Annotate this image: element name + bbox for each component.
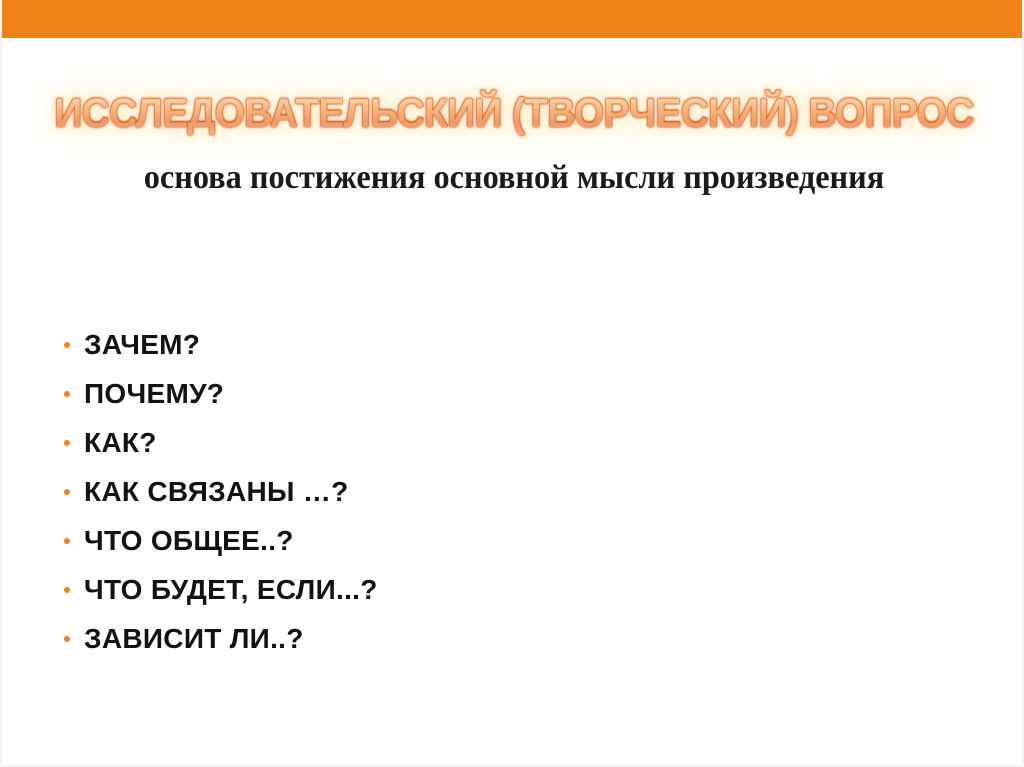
bullet-dot-icon [64,489,70,495]
list-item: ПОЧЕМУ? [62,369,782,418]
list-item: ЗАЧЕМ? [62,320,782,369]
bullet-dot-icon [64,342,70,348]
bullet-dot-icon [64,440,70,446]
list-item: ЧТО ОБЩЕЕ..? [62,516,782,565]
list-item: КАК? [62,418,782,467]
list-item-label: КАК? [84,428,157,458]
list-item-label: ЗАВИСИТ ЛИ..? [84,624,304,654]
list-item-label: ЧТО БУДЕТ, ЕСЛИ...? [84,575,378,605]
list-item: ЧТО БУДЕТ, ЕСЛИ...? [62,565,782,614]
page-title-text: ИССЛЕДОВАТЕЛЬСКИЙ (ТВОРЧЕСКИЙ) ВОПРОС [17,90,1010,136]
slide-canvas: ИССЛЕДОВАТЕЛЬСКИЙ (ТВОРЧЕСКИЙ) ВОПРОС ИС… [0,0,1024,767]
bullet-dot-icon [64,587,70,593]
list-item: ЗАВИСИТ ЛИ..? [62,614,782,663]
bullet-dot-icon [64,636,70,642]
question-list: ЗАЧЕМ? ПОЧЕМУ? КАК? КАК СВЯЗАНЫ …? ЧТО О… [62,320,782,663]
bullet-dot-icon [64,391,70,397]
bullet-dot-icon [64,538,70,544]
page-subtitle: основа постижения основной мысли произве… [96,155,932,201]
list-item: КАК СВЯЗАНЫ …? [62,467,782,516]
list-item-label: ЧТО ОБЩЕЕ..? [84,526,294,556]
top-accent-band [2,0,1024,38]
list-item-label: КАК СВЯЗАНЫ …? [84,477,349,507]
list-item-label: ЗАЧЕМ? [84,330,200,360]
page-title: ИССЛЕДОВАТЕЛЬСКИЙ (ТВОРЧЕСКИЙ) ВОПРОС ИС… [2,90,1024,146]
list-item-label: ПОЧЕМУ? [84,379,224,409]
